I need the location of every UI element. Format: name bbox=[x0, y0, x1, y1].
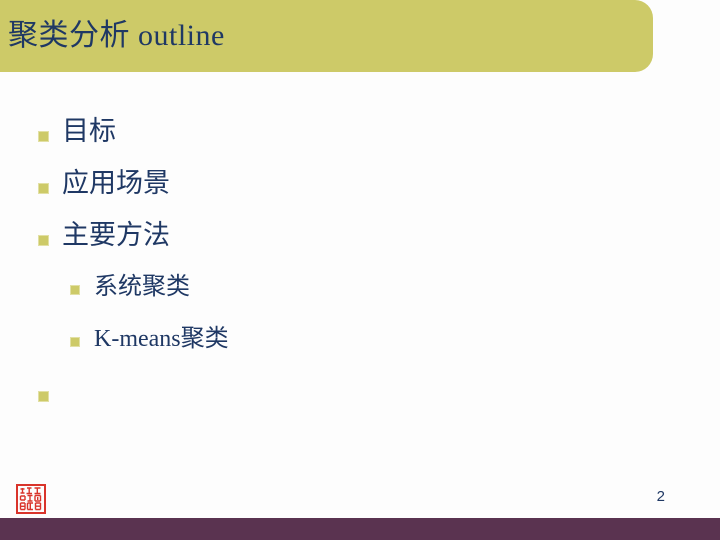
bullet-list: 目标 应用场景 主要方法 系统聚类 K-means聚类 bbox=[0, 110, 720, 422]
chinese-seal-stamp-icon bbox=[16, 484, 46, 514]
sub-list-item-label: K-means聚类 bbox=[94, 320, 229, 358]
sub-list-item[interactable]: K-means聚类 bbox=[0, 318, 720, 370]
slide-footer-bar bbox=[0, 518, 720, 540]
bullet-marker-icon bbox=[38, 183, 49, 194]
bullet-marker-icon bbox=[38, 131, 49, 142]
slide-title: 聚类分析 outline bbox=[8, 14, 225, 58]
sub-list-item-label: 系统聚类 bbox=[94, 268, 190, 306]
slide-canvas: 聚类分析 outline 目标 应用场景 主要方法 系统聚类 K-means聚类 bbox=[0, 0, 720, 540]
bullet-marker-icon bbox=[38, 391, 49, 402]
bullet-marker-icon bbox=[38, 235, 49, 246]
bullet-marker-icon bbox=[70, 285, 80, 295]
list-item-label: 目标 bbox=[62, 110, 116, 152]
sub-list-item[interactable]: 系统聚类 bbox=[0, 266, 720, 318]
list-item[interactable]: 应用场景 bbox=[0, 162, 720, 214]
list-item[interactable]: 目标 bbox=[0, 110, 720, 162]
slide-title-bar: 聚类分析 outline bbox=[0, 0, 653, 72]
list-item[interactable]: 主要方法 bbox=[0, 214, 720, 266]
bullet-marker-icon bbox=[70, 337, 80, 347]
list-item-label: 应用场景 bbox=[62, 162, 170, 204]
list-item-empty[interactable] bbox=[0, 370, 720, 422]
page-number: 2 bbox=[657, 488, 665, 505]
list-item-label: 主要方法 bbox=[62, 214, 170, 256]
